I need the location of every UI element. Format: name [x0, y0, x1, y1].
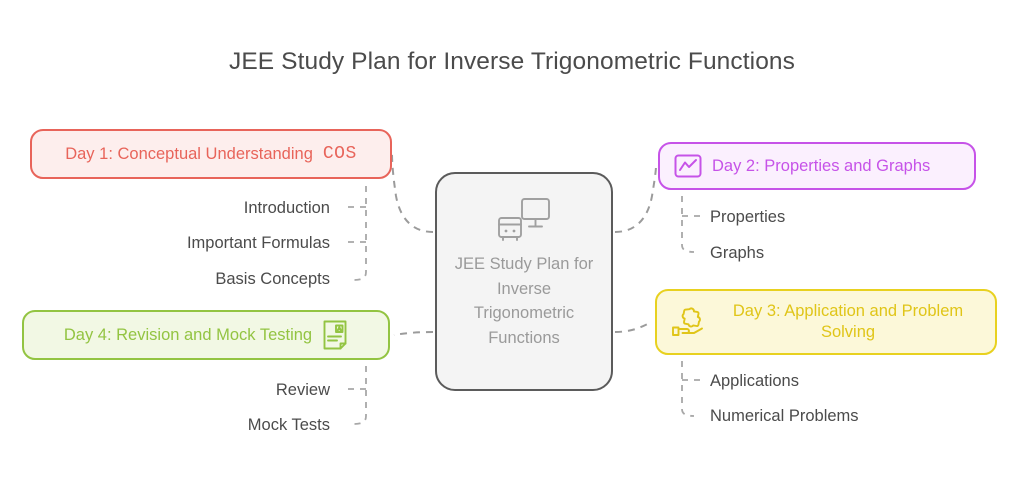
branch-label-day1: Day 1: Conceptual Understanding — [65, 144, 313, 165]
subitem-day3-2[interactable]: Numerical Problems — [710, 406, 859, 426]
subitem-day2-1[interactable]: Properties — [710, 207, 785, 227]
connector-day1-trunk — [354, 186, 366, 280]
connector-day3-trunk — [682, 361, 694, 416]
branch-node-day1[interactable]: Day 1: Conceptual Understanding COS — [30, 129, 392, 179]
mindmap-canvas: JEE Study Plan for Inverse Trigonometric… — [0, 0, 1024, 484]
connector-center-to-day3 — [615, 322, 652, 332]
connector-center-to-day2 — [615, 166, 656, 232]
subitem-day3-1[interactable]: Applications — [710, 371, 799, 391]
branch-label-day4: Day 4: Revision and Mock Testing — [64, 325, 312, 346]
subitem-day4-2[interactable]: Mock Tests — [130, 415, 330, 435]
subitem-day1-1[interactable]: Introduction — [130, 198, 330, 218]
branch-node-day3[interactable]: Day 3: Application and Problem Solving — [655, 289, 997, 355]
connector-day2-trunk — [682, 196, 694, 252]
connector-day4-trunk — [354, 366, 366, 424]
branch-label-day2: Day 2: Properties and Graphs — [712, 156, 930, 177]
subitem-day2-2[interactable]: Graphs — [710, 243, 764, 263]
branch-label-day3: Day 3: Application and Problem Solving — [715, 301, 981, 343]
subitem-day1-3[interactable]: Basis Concepts — [130, 269, 330, 289]
connector-center-to-day4 — [394, 332, 433, 335]
line-chart-icon — [674, 153, 702, 179]
branch-node-day4[interactable]: Day 4: Revision and Mock Testing — [22, 310, 390, 360]
subitem-day1-2[interactable]: Important Formulas — [130, 233, 330, 253]
connector-center-to-day1 — [392, 154, 433, 232]
monitor-and-server-icon — [496, 196, 552, 242]
page-title: JEE Study Plan for Inverse Trigonometric… — [0, 48, 1024, 76]
center-node-label: JEE Study Plan for Inverse Trigonometric… — [449, 252, 599, 350]
branch-node-day2[interactable]: Day 2: Properties and Graphs — [658, 142, 976, 190]
subitem-day4-1[interactable]: Review — [130, 380, 330, 400]
center-node[interactable]: JEE Study Plan for Inverse Trigonometric… — [435, 172, 613, 391]
graded-test-paper-icon — [322, 319, 348, 351]
cos-text-icon: COS — [323, 144, 357, 164]
hand-holding-puzzle-icon — [671, 306, 705, 338]
